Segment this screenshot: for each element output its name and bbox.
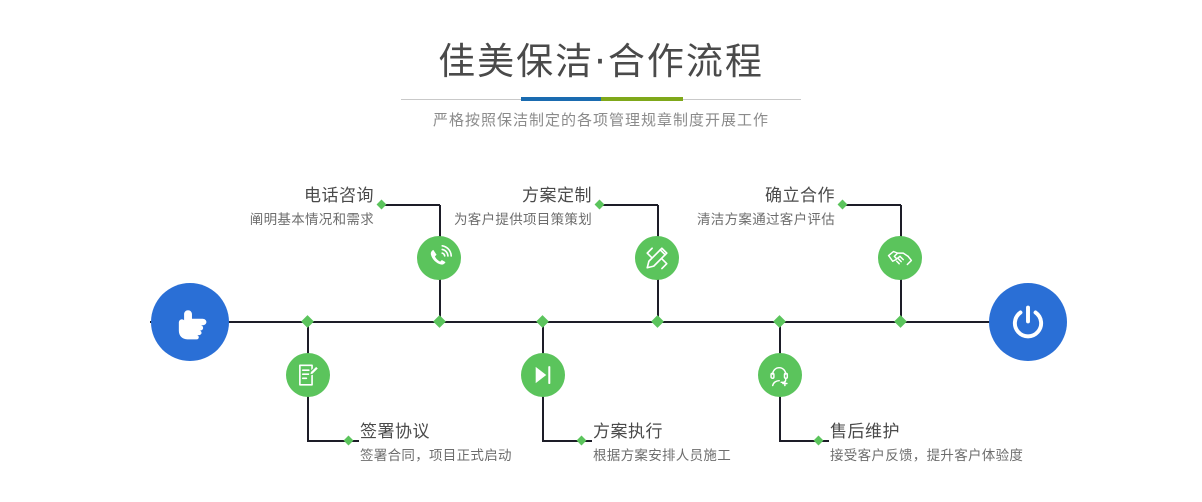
connector-horizontal-step-5 <box>843 204 901 206</box>
page-title: 佳美保洁·合作流程 <box>0 38 1202 86</box>
step-label-3: 方案定制 为客户提供项目策策划 <box>340 185 592 231</box>
divider-green-segment <box>601 97 683 101</box>
step-title-5: 确立合作 <box>585 185 835 207</box>
step-title-6: 售后维护 <box>830 421 1130 443</box>
step-icon-3[interactable] <box>635 236 679 280</box>
connector-diamond-step-2 <box>344 436 354 446</box>
headset-support-icon <box>767 362 793 388</box>
play-execute-icon <box>530 362 556 388</box>
step-title-4: 方案执行 <box>593 421 853 443</box>
handshake-icon <box>887 245 913 271</box>
axis-diamond-step-3 <box>651 315 664 328</box>
step-desc-1: 阐明基本情况和需求 <box>128 209 374 231</box>
axis-diamond-step-2 <box>301 315 314 328</box>
axis-diamond-step-5 <box>894 315 907 328</box>
step-label-4: 方案执行 根据方案安排人员施工 <box>593 421 853 467</box>
step-label-1: 电话咨询 阐明基本情况和需求 <box>128 185 374 231</box>
process-flow-diagram: 电话咨询 阐明基本情况和需求 签署协议 签署合同，项目正式启动 <box>0 145 1202 502</box>
step-icon-5[interactable] <box>878 236 922 280</box>
step-icon-6[interactable] <box>758 353 802 397</box>
step-desc-3: 为客户提供项目策策划 <box>340 209 592 231</box>
step-label-2: 签署协议 签署合同，项目正式启动 <box>360 421 620 467</box>
document-edit-icon <box>295 362 321 388</box>
step-label-5: 确立合作 清洁方案通过客户评估 <box>585 185 835 231</box>
pointing-hand-icon <box>169 301 211 343</box>
step-title-2: 签署协议 <box>360 421 620 443</box>
page-header: 佳美保洁·合作流程 严格按照保洁制定的各项管理规章制度开展工作 <box>0 0 1202 145</box>
step-label-6: 售后维护 接受客户反馈，提升客户体验度 <box>830 421 1130 467</box>
title-divider <box>401 97 801 101</box>
step-desc-5: 清洁方案通过客户评估 <box>585 209 835 231</box>
connector-diamond-step-5 <box>838 200 848 210</box>
step-title-1: 电话咨询 <box>128 185 374 207</box>
power-button-icon <box>1007 301 1049 343</box>
step-icon-1[interactable] <box>417 236 461 280</box>
step-icon-2[interactable] <box>286 353 330 397</box>
divider-blue-segment <box>521 97 601 101</box>
flow-start-node[interactable] <box>151 283 229 361</box>
step-desc-4: 根据方案安排人员施工 <box>593 445 853 467</box>
axis-diamond-step-1 <box>433 315 446 328</box>
step-desc-6: 接受客户反馈，提升客户体验度 <box>830 445 1130 467</box>
axis-diamond-step-4 <box>536 315 549 328</box>
pencil-ruler-icon <box>644 245 670 271</box>
step-desc-2: 签署合同，项目正式启动 <box>360 445 620 467</box>
phone-call-icon <box>426 245 452 271</box>
step-icon-4[interactable] <box>521 353 565 397</box>
page-subtitle: 严格按照保洁制定的各项管理规章制度开展工作 <box>0 105 1202 135</box>
axis-diamond-step-6 <box>773 315 786 328</box>
flow-end-node[interactable] <box>989 283 1067 361</box>
step-title-3: 方案定制 <box>340 185 592 207</box>
timeline-axis <box>150 321 1052 323</box>
